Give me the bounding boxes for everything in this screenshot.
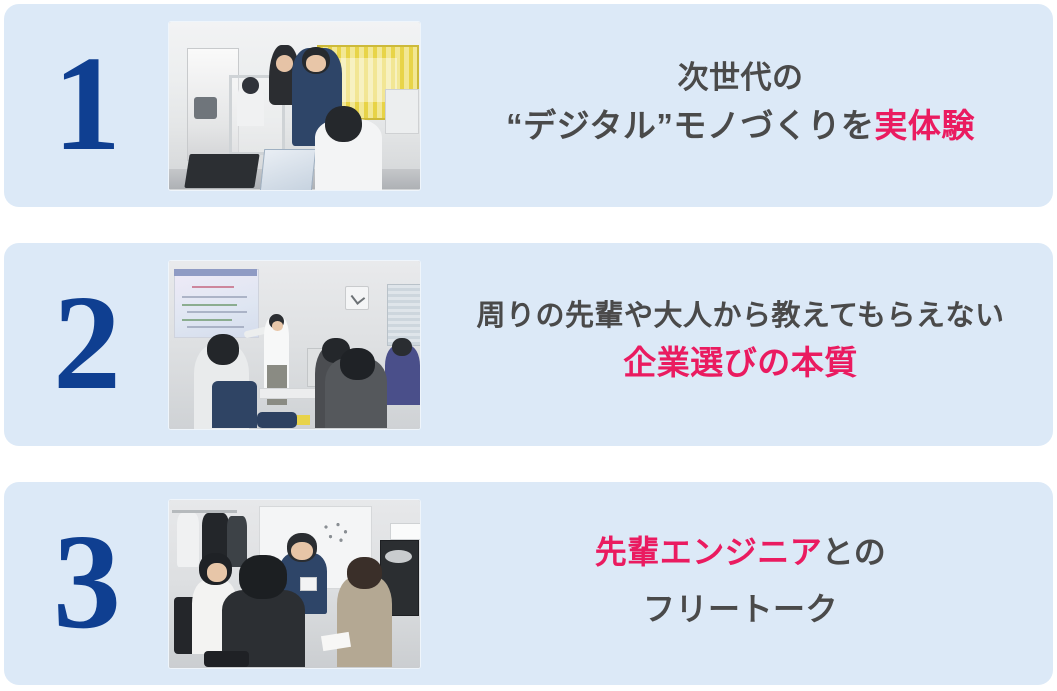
card-2-number-column: 2 bbox=[4, 243, 168, 446]
highlights-board: 1 次世代の “デジタル”モノづくりを実体験 bbox=[0, 0, 1057, 691]
card-1-photo bbox=[169, 22, 420, 190]
card-1-line-2-segment-1: “デジタル”モノづくりを bbox=[506, 107, 874, 144]
card-3-line-2-segment-1: フリートーク bbox=[643, 591, 838, 627]
card-1-line-2-highlight: 実体験 bbox=[874, 107, 975, 144]
card-1-number: 1 bbox=[53, 36, 119, 172]
card-2-line-2-highlight: 企業選びの本質 bbox=[623, 344, 858, 381]
card-2-text-column: 周りの先輩や大人から教えてもらえない 企業選びの本質 bbox=[436, 243, 1053, 446]
card-2-line-1: 周りの先輩や大人から教えてもらえない bbox=[476, 294, 1004, 338]
highlight-card-3: 3 先輩エンジニアとの bbox=[4, 482, 1053, 685]
card-1-number-column: 1 bbox=[4, 4, 168, 207]
card-3-line-1: 先輩エンジニアとの bbox=[595, 524, 887, 581]
card-1-line-1: 次世代の bbox=[678, 54, 804, 101]
card-3-line-2: フリートーク bbox=[643, 581, 838, 638]
card-3-line-1-highlight: 先輩エンジニア bbox=[595, 534, 822, 570]
card-3-photo-column bbox=[168, 482, 436, 685]
highlight-card-2: 2 bbox=[4, 243, 1053, 446]
card-3-line-1-segment-2: との bbox=[822, 534, 887, 570]
card-3-text-column: 先輩エンジニアとの フリートーク bbox=[436, 482, 1053, 685]
card-2-photo bbox=[169, 261, 420, 429]
card-3-number: 3 bbox=[53, 514, 119, 650]
card-1-line-2: “デジタル”モノづくりを実体験 bbox=[506, 101, 975, 151]
card-2-photo-column bbox=[168, 243, 436, 446]
card-1-photo-column bbox=[168, 4, 436, 207]
highlight-card-1: 1 次世代の “デジタル”モノづくりを実体験 bbox=[4, 4, 1053, 207]
card-3-photo bbox=[169, 500, 420, 668]
card-2-number: 2 bbox=[53, 275, 119, 411]
card-3-number-column: 3 bbox=[4, 482, 168, 685]
card-2-line-2: 企業選びの本質 bbox=[623, 338, 858, 388]
card-2-line-1-segment-1: 周りの先輩や大人から教えてもらえない bbox=[476, 300, 1004, 332]
card-1-line-1-segment-1: 次世代の bbox=[678, 60, 804, 95]
card-1-text-column: 次世代の “デジタル”モノづくりを実体験 bbox=[436, 4, 1053, 207]
